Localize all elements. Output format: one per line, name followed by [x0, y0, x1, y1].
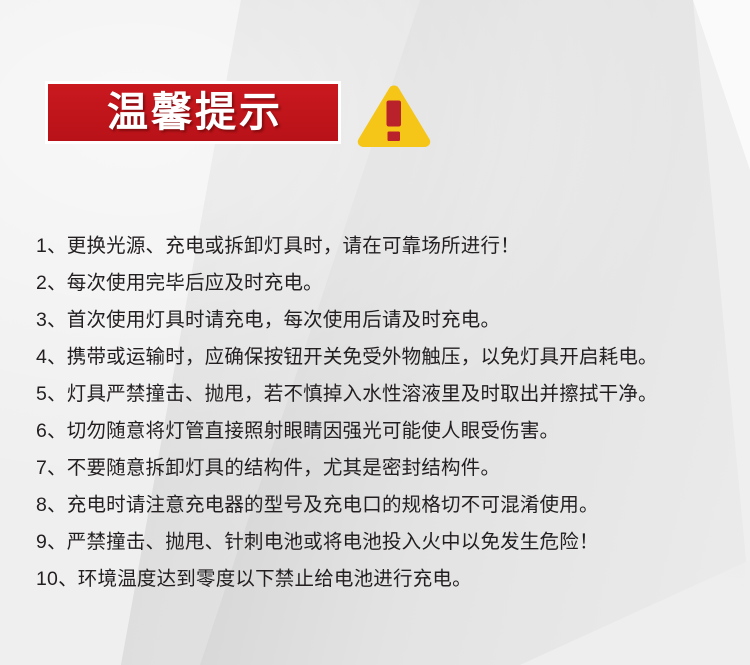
list-item: 10、环境温度达到零度以下禁止给电池进行充电。 — [36, 561, 736, 598]
list-item: 5、灯具严禁撞击、抛甩，若不慎掉入水性溶液里及时取出并擦拭干净。 — [36, 376, 736, 413]
list-item-number: 9、 — [36, 531, 67, 553]
list-item-number: 2、 — [36, 272, 67, 294]
list-item-text: 不要随意拆卸灯具的结构件，尤其是密封结构件。 — [67, 457, 500, 479]
list-item: 6、切勿随意将灯管直接照射眼睛因强光可能使人眼受伤害。 — [36, 413, 736, 450]
warning-notice-poster: 温馨提示 1、更换光源、充电或拆卸灯具时，请在可靠场所进行！ 2、每次使用完毕后… — [0, 0, 750, 665]
list-item: 9、严禁撞击、抛甩、针刺电池或将电池投入火中以免发生危险！ — [36, 524, 736, 561]
list-item-text: 首次使用灯具时请充电，每次使用后请及时充电。 — [67, 309, 500, 331]
list-item-number: 8、 — [36, 494, 67, 516]
list-item: 3、首次使用灯具时请充电，每次使用后请及时充电。 — [36, 302, 736, 339]
list-item-number: 4、 — [36, 346, 67, 368]
list-item-number: 3、 — [36, 309, 67, 331]
list-item-text: 更换光源、充电或拆卸灯具时，请在可靠场所进行！ — [67, 235, 520, 257]
warning-triangle-icon — [356, 84, 432, 147]
list-item: 4、携带或运输时，应确保按钮开关免受外物触压，以免灯具开启耗电。 — [36, 339, 736, 376]
list-item-text: 严禁撞击、抛甩、针刺电池或将电池投入火中以免发生危险！ — [67, 531, 599, 553]
list-item-number: 1、 — [36, 235, 67, 257]
list-item-number: 5、 — [36, 383, 67, 405]
list-item-number: 7、 — [36, 457, 67, 479]
list-item-text: 携带或运输时，应确保按钮开关免受外物触压，以免灯具开启耗电。 — [67, 346, 658, 368]
list-item: 8、充电时请注意充电器的型号及充电口的规格切不可混淆使用。 — [36, 487, 736, 524]
list-item-text: 充电时请注意充电器的型号及充电口的规格切不可混淆使用。 — [67, 494, 599, 516]
list-item-text: 灯具严禁撞击、抛甩，若不慎掉入水性溶液里及时取出并擦拭干净。 — [67, 383, 658, 405]
list-item-number: 10、 — [36, 568, 78, 590]
list-item-text: 环境温度达到零度以下禁止给电池进行充电。 — [78, 568, 472, 590]
list-item: 7、不要随意拆卸灯具的结构件，尤其是密封结构件。 — [36, 450, 736, 487]
page-title: 温馨提示 — [103, 92, 283, 133]
notice-list: 1、更换光源、充电或拆卸灯具时，请在可靠场所进行！ 2、每次使用完毕后应及时充电… — [36, 228, 736, 598]
title-banner: 温馨提示 — [45, 81, 341, 144]
list-item-text: 切勿随意将灯管直接照射眼睛因强光可能使人眼受伤害。 — [67, 420, 560, 442]
list-item: 2、每次使用完毕后应及时充电。 — [36, 265, 736, 302]
list-item-text: 每次使用完毕后应及时充电。 — [67, 272, 323, 294]
list-item-number: 6、 — [36, 420, 67, 442]
title-banner-fill: 温馨提示 — [48, 84, 338, 141]
list-item: 1、更换光源、充电或拆卸灯具时，请在可靠场所进行！ — [36, 228, 736, 265]
